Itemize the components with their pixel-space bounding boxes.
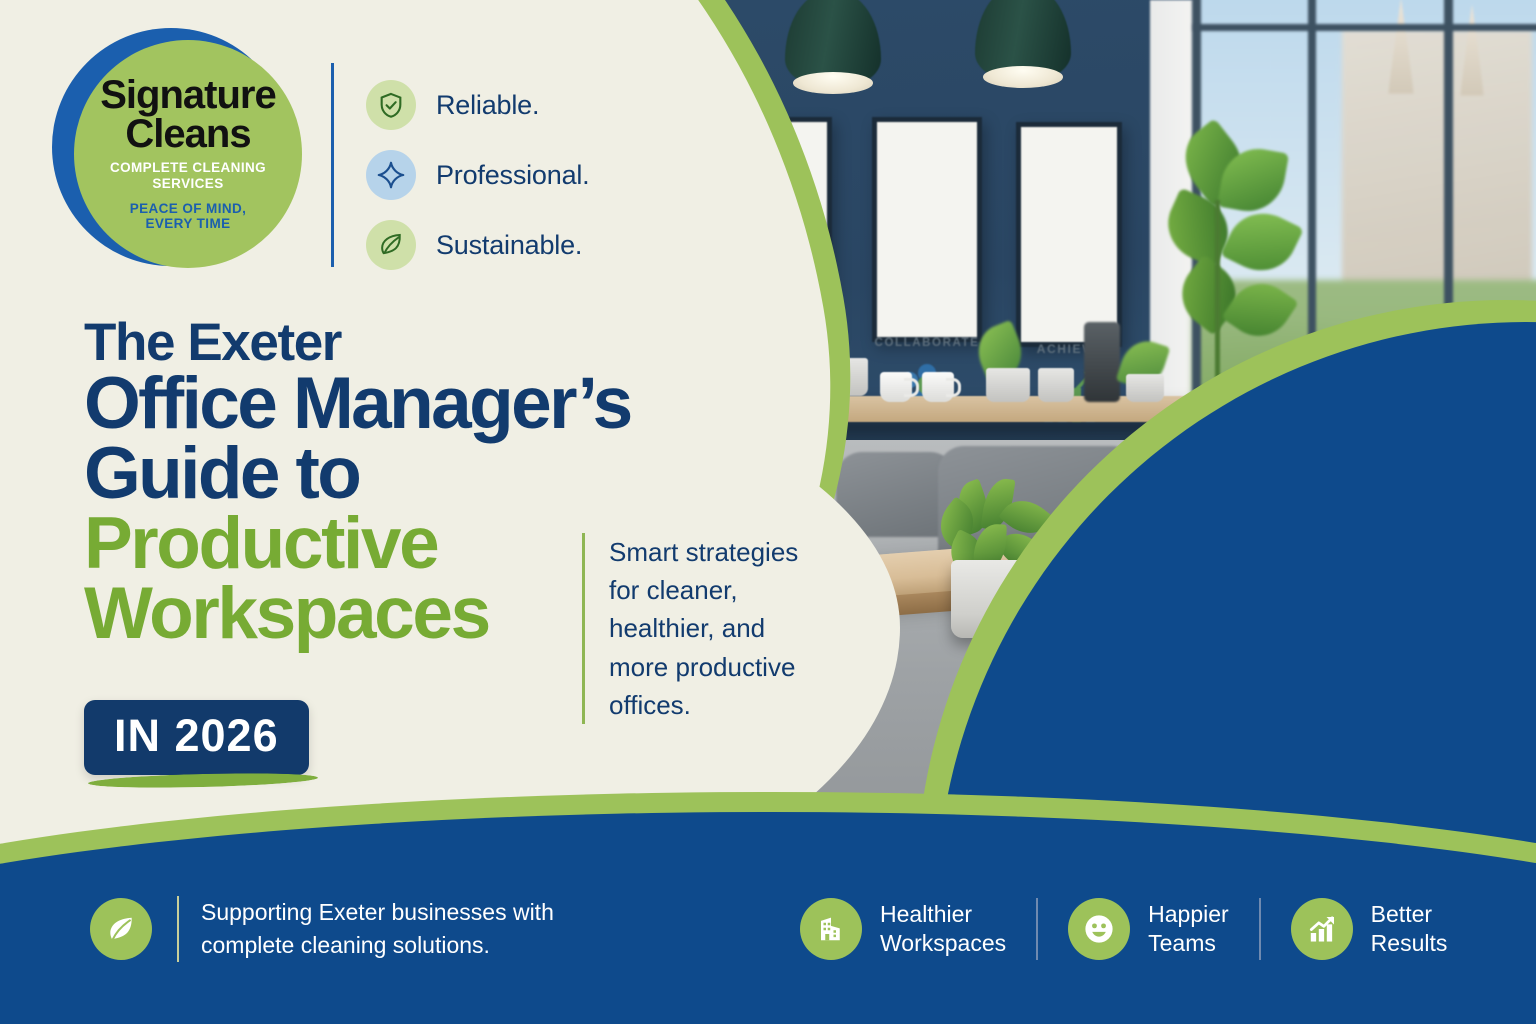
feature-item-sustainable[interactable]: Sustainable.	[366, 210, 589, 280]
feature-item-reliable[interactable]: Reliable.	[366, 70, 589, 140]
benefit-healthier-line1: Healthier	[880, 900, 1006, 929]
headline-line3: Guide to	[84, 439, 644, 509]
benefit-separator-1	[1036, 898, 1038, 960]
footer-tagline-group: Supporting Exeter businesses with comple…	[90, 896, 554, 962]
benefit-happier-line1: Happier	[1148, 900, 1229, 929]
logo-name-line2: Cleans	[125, 114, 250, 154]
logo-disc: Signature Cleans COMPLETE CLEANING SERVI…	[74, 40, 302, 268]
year-badge: IN 2026	[84, 700, 309, 775]
subheading-line3: healthier, and	[609, 609, 798, 647]
benefit-healthier-line2: Workspaces	[880, 929, 1006, 958]
leaf-icon	[90, 898, 152, 960]
benefit-separator-2	[1259, 898, 1261, 960]
bar-chart-up-icon	[1291, 898, 1353, 960]
feature-label-sustainable: Sustainable.	[436, 230, 582, 261]
benefit-happier-line2: Teams	[1148, 929, 1229, 958]
feature-list: Reliable. Professional. Sustainable.	[366, 70, 589, 280]
building-icon	[800, 898, 862, 960]
poster-canvas: FOCUS COLLABORATE	[0, 0, 1536, 1024]
leaf-icon	[366, 220, 416, 270]
footer-divider	[177, 896, 179, 962]
sparkle-icon	[366, 150, 416, 200]
subheading-rule	[582, 533, 585, 724]
benefit-better-line2: Results	[1371, 929, 1448, 958]
logo-tagline-line2: EVERY TIME	[130, 216, 247, 232]
page-title: The Exeter Office Manager’s Guide to Pro…	[84, 316, 644, 649]
subheading: Smart strategies for cleaner, healthier,…	[582, 533, 862, 724]
headline-line5: Workspaces	[84, 579, 644, 649]
benefit-label-happier: Happier Teams	[1148, 900, 1229, 958]
headline-line1: The Exeter	[84, 316, 644, 369]
subheading-text: Smart strategies for cleaner, healthier,…	[609, 533, 798, 724]
subheading-line1: Smart strategies	[609, 533, 798, 571]
benefit-better-results[interactable]: Better Results	[1291, 898, 1448, 960]
logo-divider	[331, 63, 334, 267]
subheading-line5: offices.	[609, 686, 798, 724]
headline-line2: Office Manager’s	[84, 369, 644, 439]
benefit-healthier-workspaces[interactable]: Healthier Workspaces	[800, 898, 1006, 960]
footer-benefits: Healthier Workspaces	[800, 898, 1447, 960]
benefit-label-healthier: Healthier Workspaces	[880, 900, 1006, 958]
benefit-label-better: Better Results	[1371, 900, 1448, 958]
feature-label-reliable: Reliable.	[436, 90, 539, 121]
benefit-happier-teams[interactable]: Happier Teams	[1068, 898, 1229, 960]
footer-band: Supporting Exeter businesses with comple…	[0, 880, 1536, 1024]
brand-logo[interactable]: Signature Cleans COMPLETE CLEANING SERVI…	[52, 18, 302, 274]
footer-tagline-line1: Supporting Exeter businesses with	[201, 896, 554, 929]
footer-tagline-line2: complete cleaning solutions.	[201, 929, 554, 962]
feature-item-professional[interactable]: Professional.	[366, 140, 589, 210]
shield-check-icon	[366, 80, 416, 130]
logo-tagline: PEACE OF MIND, EVERY TIME	[130, 201, 247, 232]
logo-tagline-line1: PEACE OF MIND,	[130, 201, 247, 217]
logo-name-line1: Signature	[100, 76, 275, 114]
logo-subtitle: COMPLETE CLEANING SERVICES	[74, 160, 302, 191]
subheading-line4: more productive	[609, 648, 798, 686]
subheading-line2: for cleaner,	[609, 571, 798, 609]
smiley-icon	[1068, 898, 1130, 960]
poster-content: Signature Cleans COMPLETE CLEANING SERVI…	[0, 0, 1536, 1024]
headline-line4: Productive	[84, 509, 644, 579]
feature-label-professional: Professional.	[436, 160, 589, 191]
footer-tagline: Supporting Exeter businesses with comple…	[201, 896, 554, 961]
benefit-better-line1: Better	[1371, 900, 1448, 929]
